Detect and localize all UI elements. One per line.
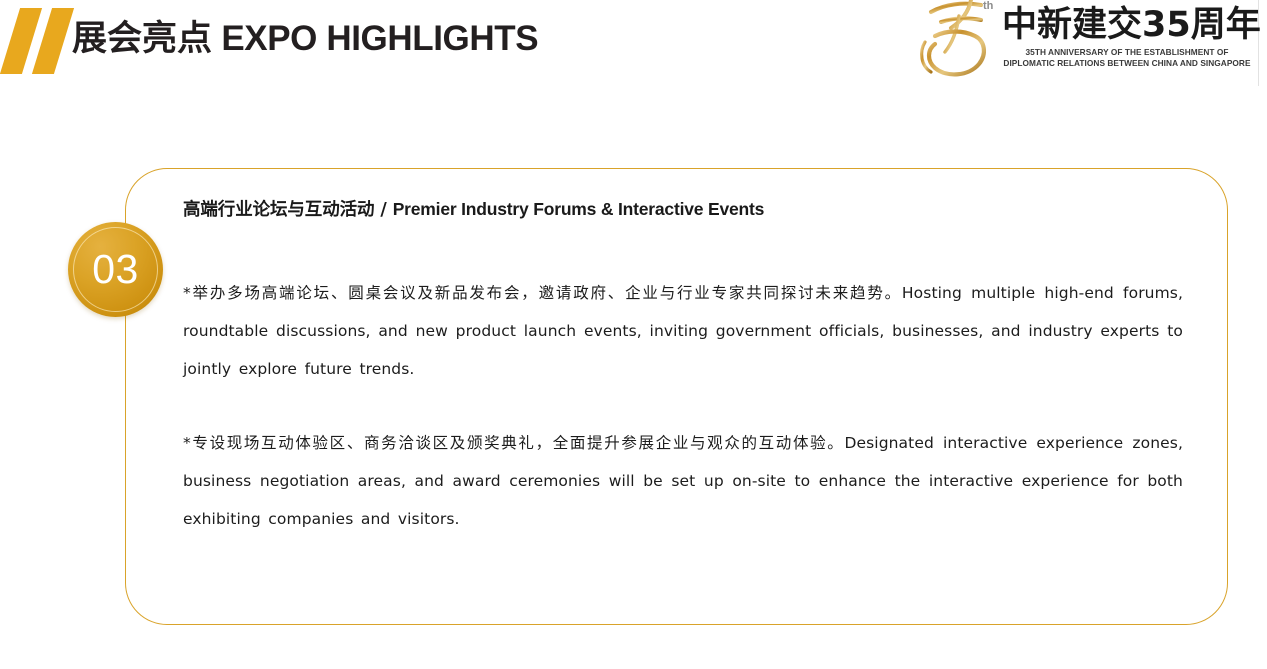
page-title-en — [212, 19, 221, 58]
badge-number-label: 03 — [68, 222, 163, 317]
anniversary-logo: th 中新建交35周年 35TH ANNIVERSARY OF THE ESTA… — [905, 0, 1259, 86]
card-title: 高端行业论坛与互动活动 / Premier Industry Forums & … — [183, 196, 1183, 223]
card-title-separator: / — [374, 200, 392, 220]
page-title-cn: 展会亮点 — [72, 19, 212, 59]
calligraphic-35-emblem-icon — [911, 0, 1003, 82]
anniversary-superscript: th — [983, 0, 993, 12]
page-title: 展会亮点 EXPO HIGHLIGHTS — [72, 17, 538, 61]
card-title-cn: 高端行业论坛与互动活动 — [183, 200, 374, 220]
page-header: 展会亮点 EXPO HIGHLIGHTS — [0, 0, 1267, 92]
highlight-card — [125, 168, 1228, 625]
anniversary-title-cn: 中新建交35周年 — [1002, 4, 1261, 46]
card-title-en: Premier Industry Forums & Interactive Ev… — [393, 199, 764, 219]
anniversary-subtitle-en: 35TH ANNIVERSARY OF THE ESTABLISHMENT OF… — [1002, 47, 1252, 69]
step-number-badge: 03 — [68, 222, 163, 317]
double-slash-mark-icon — [4, 8, 78, 74]
body-paragraph-2: *专设现场互动体验区、商务洽谈区及颁奖典礼，全面提升参展企业与观众的互动体验。D… — [183, 424, 1183, 538]
card-content: 高端行业论坛与互动活动 / Premier Industry Forums & … — [183, 196, 1183, 223]
body-paragraph-1: *举办多场高端论坛、圆桌会议及新品发布会，邀请政府、企业与行业专家共同探讨未来趋… — [183, 274, 1183, 388]
page-title-en-text: EXPO HIGHLIGHTS — [221, 19, 538, 58]
